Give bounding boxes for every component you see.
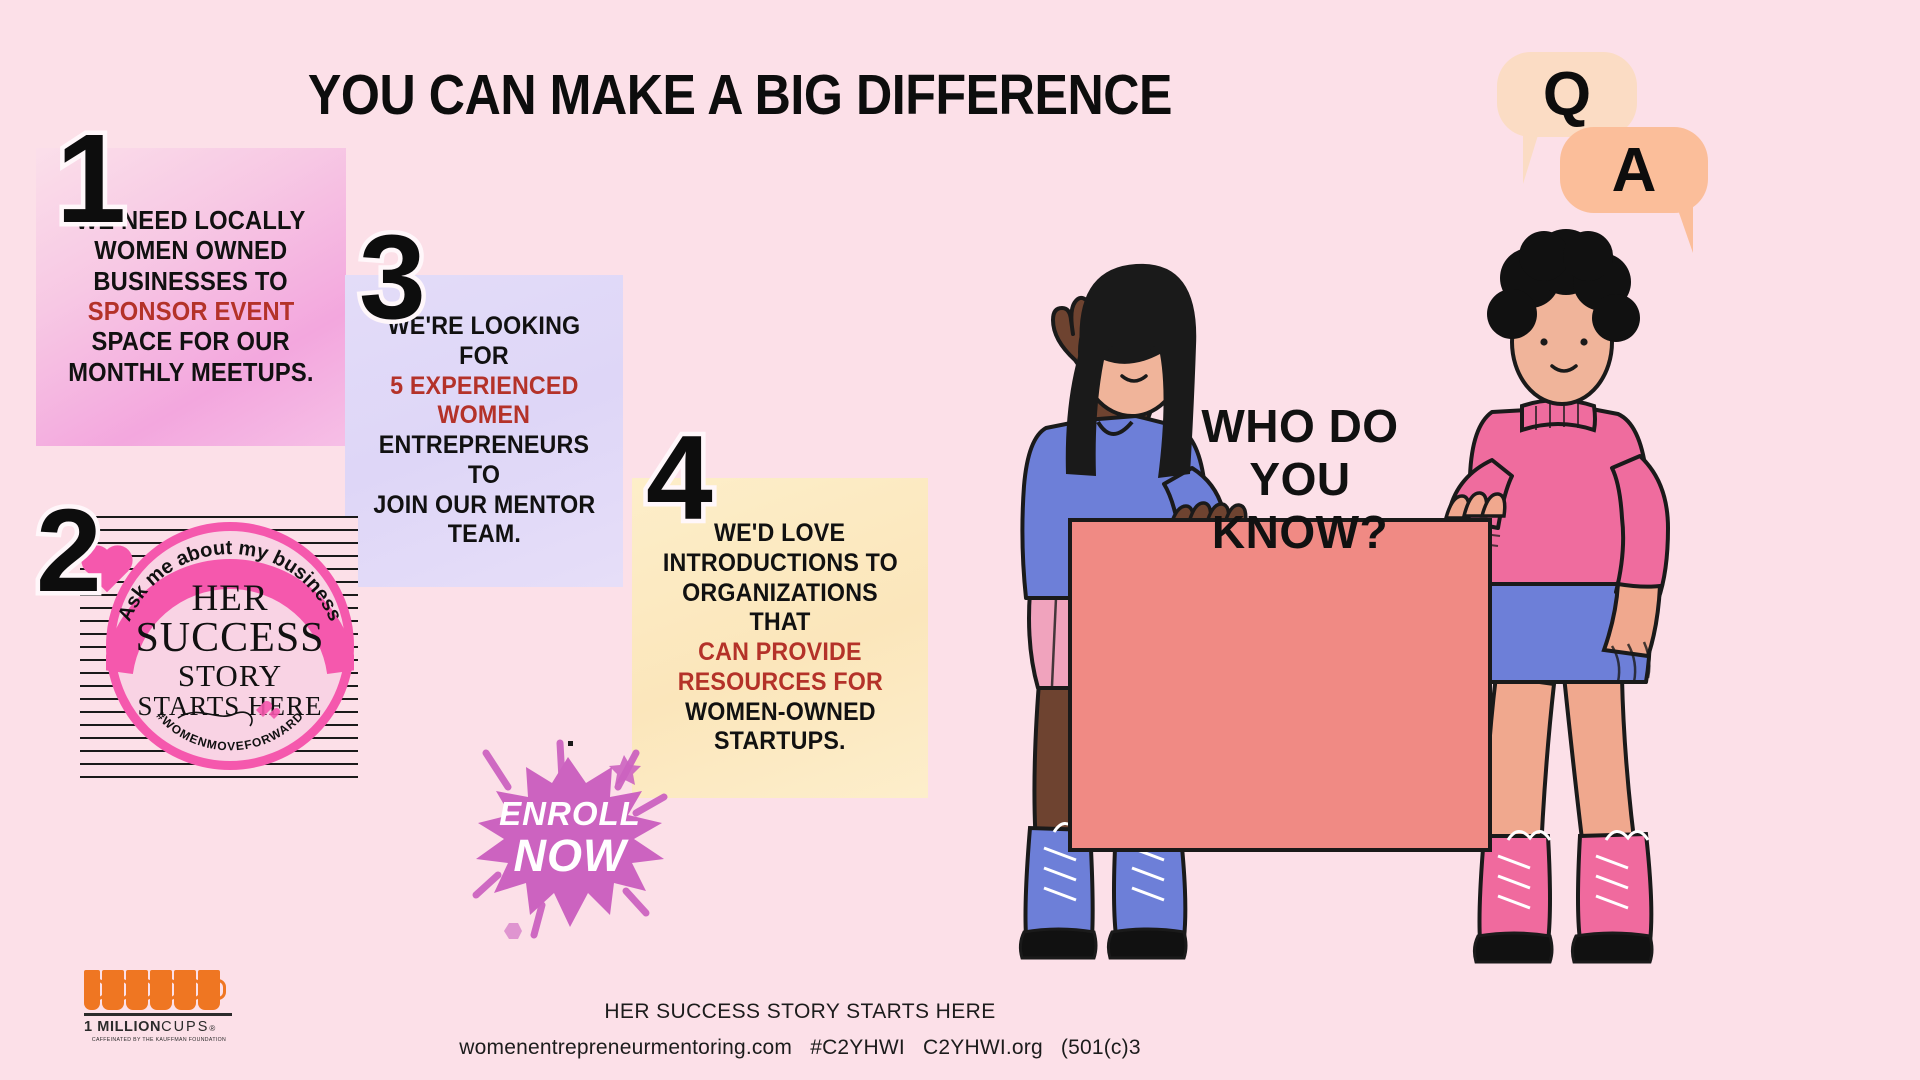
badge-hashtag: #WOMENMOVEFORWARD <box>106 522 354 770</box>
boots-right-woman <box>1474 831 1652 962</box>
card-1-line: BUSINESSES TO <box>94 267 288 297</box>
logo-wordmark: 1 MILLION CUPS ® <box>84 1019 234 1035</box>
poster-canvas: YOU CAN MAKE A BIG DIFFERENCE Q A WE NEE… <box>0 0 1920 1080</box>
cup-icon <box>84 970 100 1010</box>
protest-sign <box>1070 520 1490 850</box>
card-3-number: 3 <box>359 217 426 337</box>
page-title: YOU CAN MAKE A BIG DIFFERENCE <box>89 62 1391 128</box>
sign-line-1: WHO DO <box>1120 400 1480 453</box>
cups-icon <box>84 968 234 1010</box>
cup-icon <box>174 970 196 1010</box>
footer-status: (501(c)3 <box>1061 1036 1141 1059</box>
card-1-number-text: 1 <box>56 108 126 249</box>
card-2-number: 2 <box>36 492 102 610</box>
card-3-line: JOIN OUR MENTOR <box>373 491 595 521</box>
enroll-now-button[interactable]: ENROLL NOW <box>450 735 690 940</box>
cup-icon <box>150 970 172 1010</box>
card-2-number-text: 2 <box>36 485 102 617</box>
cup-icon <box>126 970 148 1010</box>
logo-divider <box>84 1013 232 1016</box>
card-4-number-text: 4 <box>646 411 713 545</box>
card-1-line: MONTHLY MEETUPS. <box>68 358 313 388</box>
cup-icon <box>102 970 124 1010</box>
logo-name-bold: 1 MILLION <box>84 1019 161 1035</box>
footer-website[interactable]: womenentrepreneurmentoring.com <box>459 1036 792 1059</box>
footer-tagline: HER SUCCESS STORY STARTS HERE <box>300 1000 1300 1024</box>
card-4-line: STARTUPS. <box>714 727 846 757</box>
logo-registered: ® <box>209 1024 216 1033</box>
card-1-number: 1 <box>56 116 126 242</box>
question-bubble-label: Q <box>1497 52 1637 137</box>
logo-tagline: CAFFEINATED BY THE KAUFFMAN FOUNDATION <box>84 1037 234 1043</box>
card-3-number-text: 3 <box>359 210 426 344</box>
card-1-line-accent: SPONSOR EVENT <box>88 297 295 327</box>
footer-org[interactable]: C2YHWI.org <box>923 1036 1043 1059</box>
footer-hashtag: #C2YHWI <box>810 1036 905 1059</box>
card-4-line: WE'D LOVE <box>714 519 845 549</box>
card-3-line-accent: WOMEN <box>438 401 531 431</box>
card-4-line-accent: CAN PROVIDE <box>698 638 862 668</box>
sign-line-2: YOU <box>1120 453 1480 506</box>
cup-icon <box>198 970 220 1010</box>
sign-line-3: KNOW? <box>1120 506 1480 559</box>
her-success-story-badge: Ask me about my business HER SUCCESS STO… <box>48 498 358 788</box>
card-4-number: 4 <box>646 418 713 538</box>
logo-name-light: CUPS <box>161 1019 209 1035</box>
card-3-line: TEAM. <box>447 520 520 550</box>
sign-text: WHO DO YOU KNOW? <box>1120 400 1480 559</box>
card-3-line-accent: 5 EXPERIENCED <box>390 372 578 402</box>
footer-links: womenentrepreneurmentoring.com #C2YHWI C… <box>300 1036 1300 1060</box>
footer: HER SUCCESS STORY STARTS HERE womenentre… <box>300 1000 1300 1060</box>
card-3-line: ENTREPRENEURS TO <box>368 431 601 491</box>
burst-shape <box>450 735 690 940</box>
two-women-holding-sign-illustration <box>840 200 1920 1080</box>
question-bubble: Q <box>1497 52 1637 137</box>
question-bubble-tail <box>1523 132 1553 184</box>
one-million-cups-logo: 1 MILLION CUPS ® CAFFEINATED BY THE KAUF… <box>84 968 234 1043</box>
card-1-line: SPACE FOR OUR <box>92 327 290 357</box>
